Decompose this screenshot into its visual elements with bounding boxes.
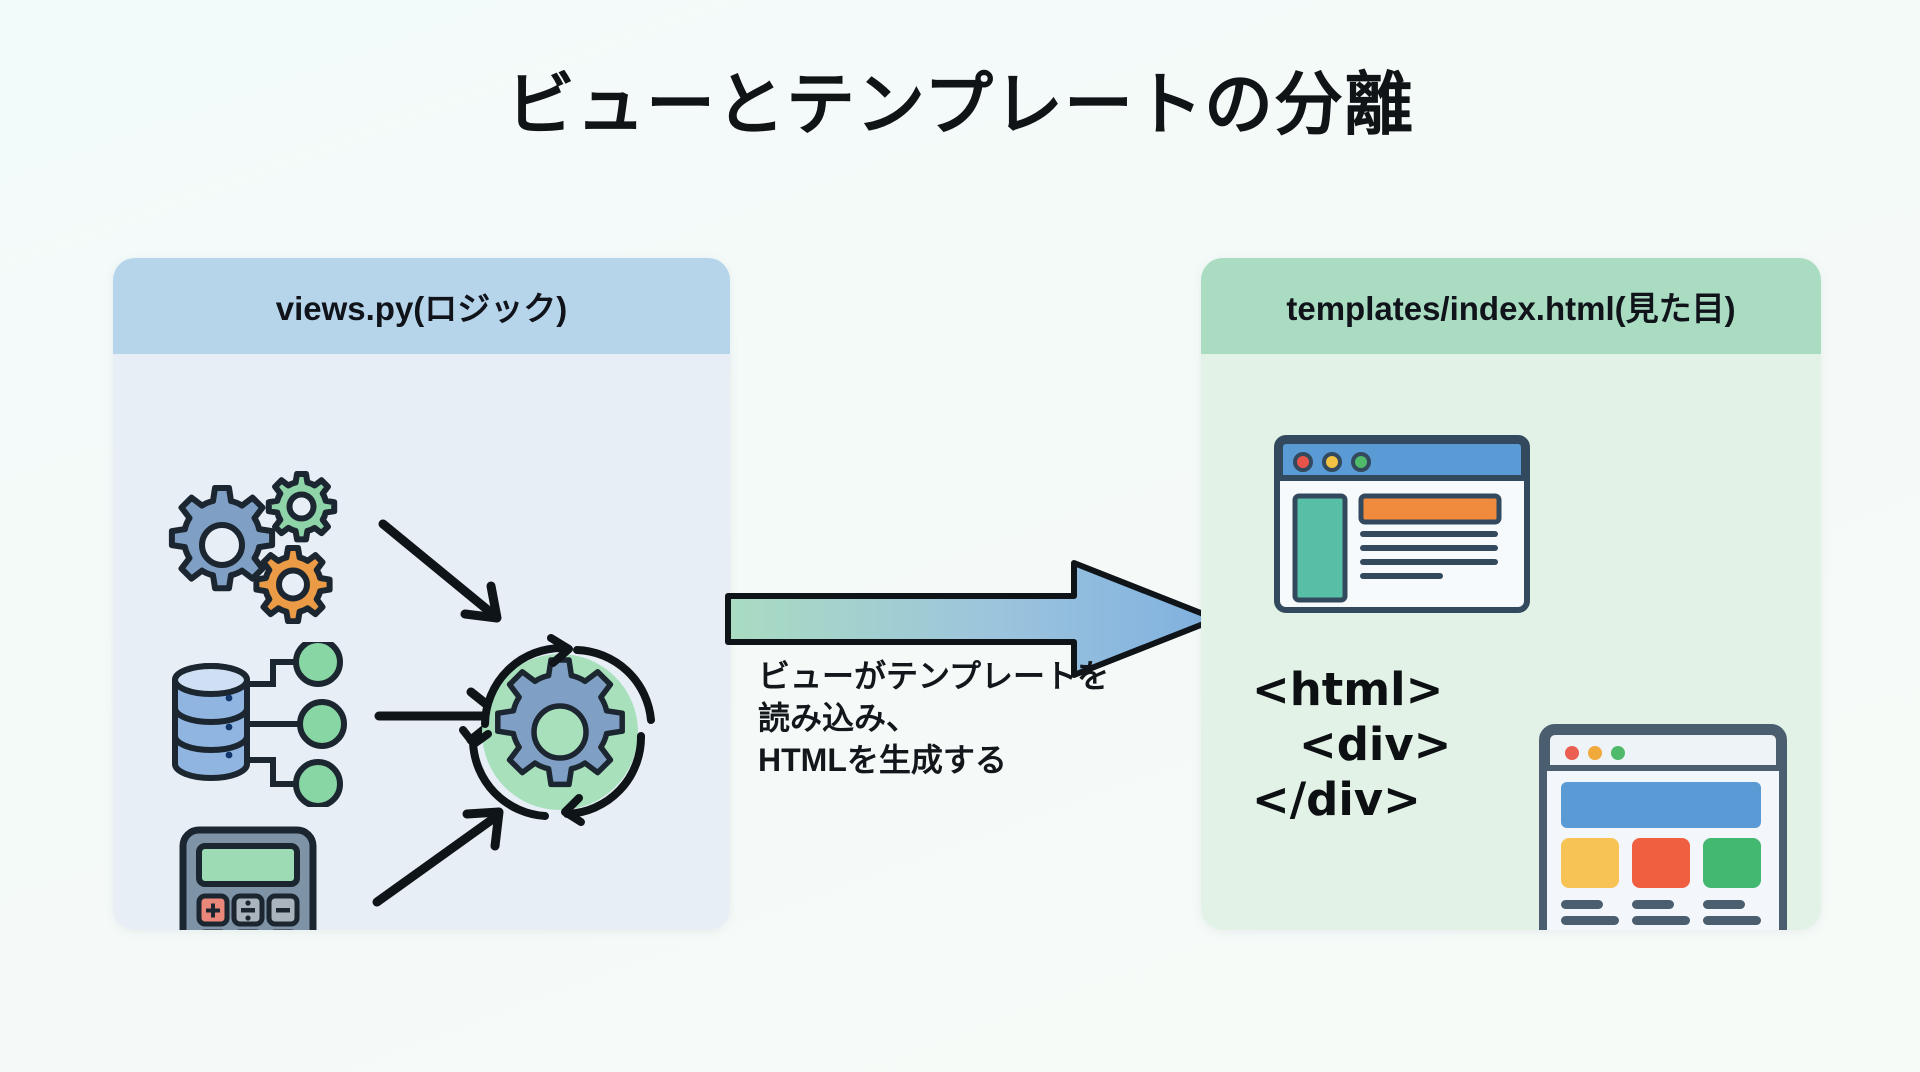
panel-templates-index-html-header: templates/index.html(見た目) (1201, 258, 1821, 354)
panel-views-py-header: views.py(ロジック) (113, 258, 730, 354)
panel-views-py: views.py(ロジック) (113, 258, 730, 930)
panel-views-py-body (113, 354, 730, 930)
calculator-icon (173, 824, 323, 930)
html-code-snippet: <html> <div> </div> (1252, 663, 1451, 828)
panel-templates-index-html-body (1201, 354, 1821, 930)
panel-templates-index-html: templates/index.html(見た目) (1201, 258, 1821, 930)
processing-gear-icon (455, 632, 665, 832)
page-title: ビューとテンプレートの分離 (0, 48, 1920, 148)
browser-window-icon (1273, 434, 1531, 614)
flow-caption: ビューがテンプレートを 読み込み、 HTMLを生成する (758, 655, 1109, 782)
browser-cards-icon (1539, 724, 1787, 930)
